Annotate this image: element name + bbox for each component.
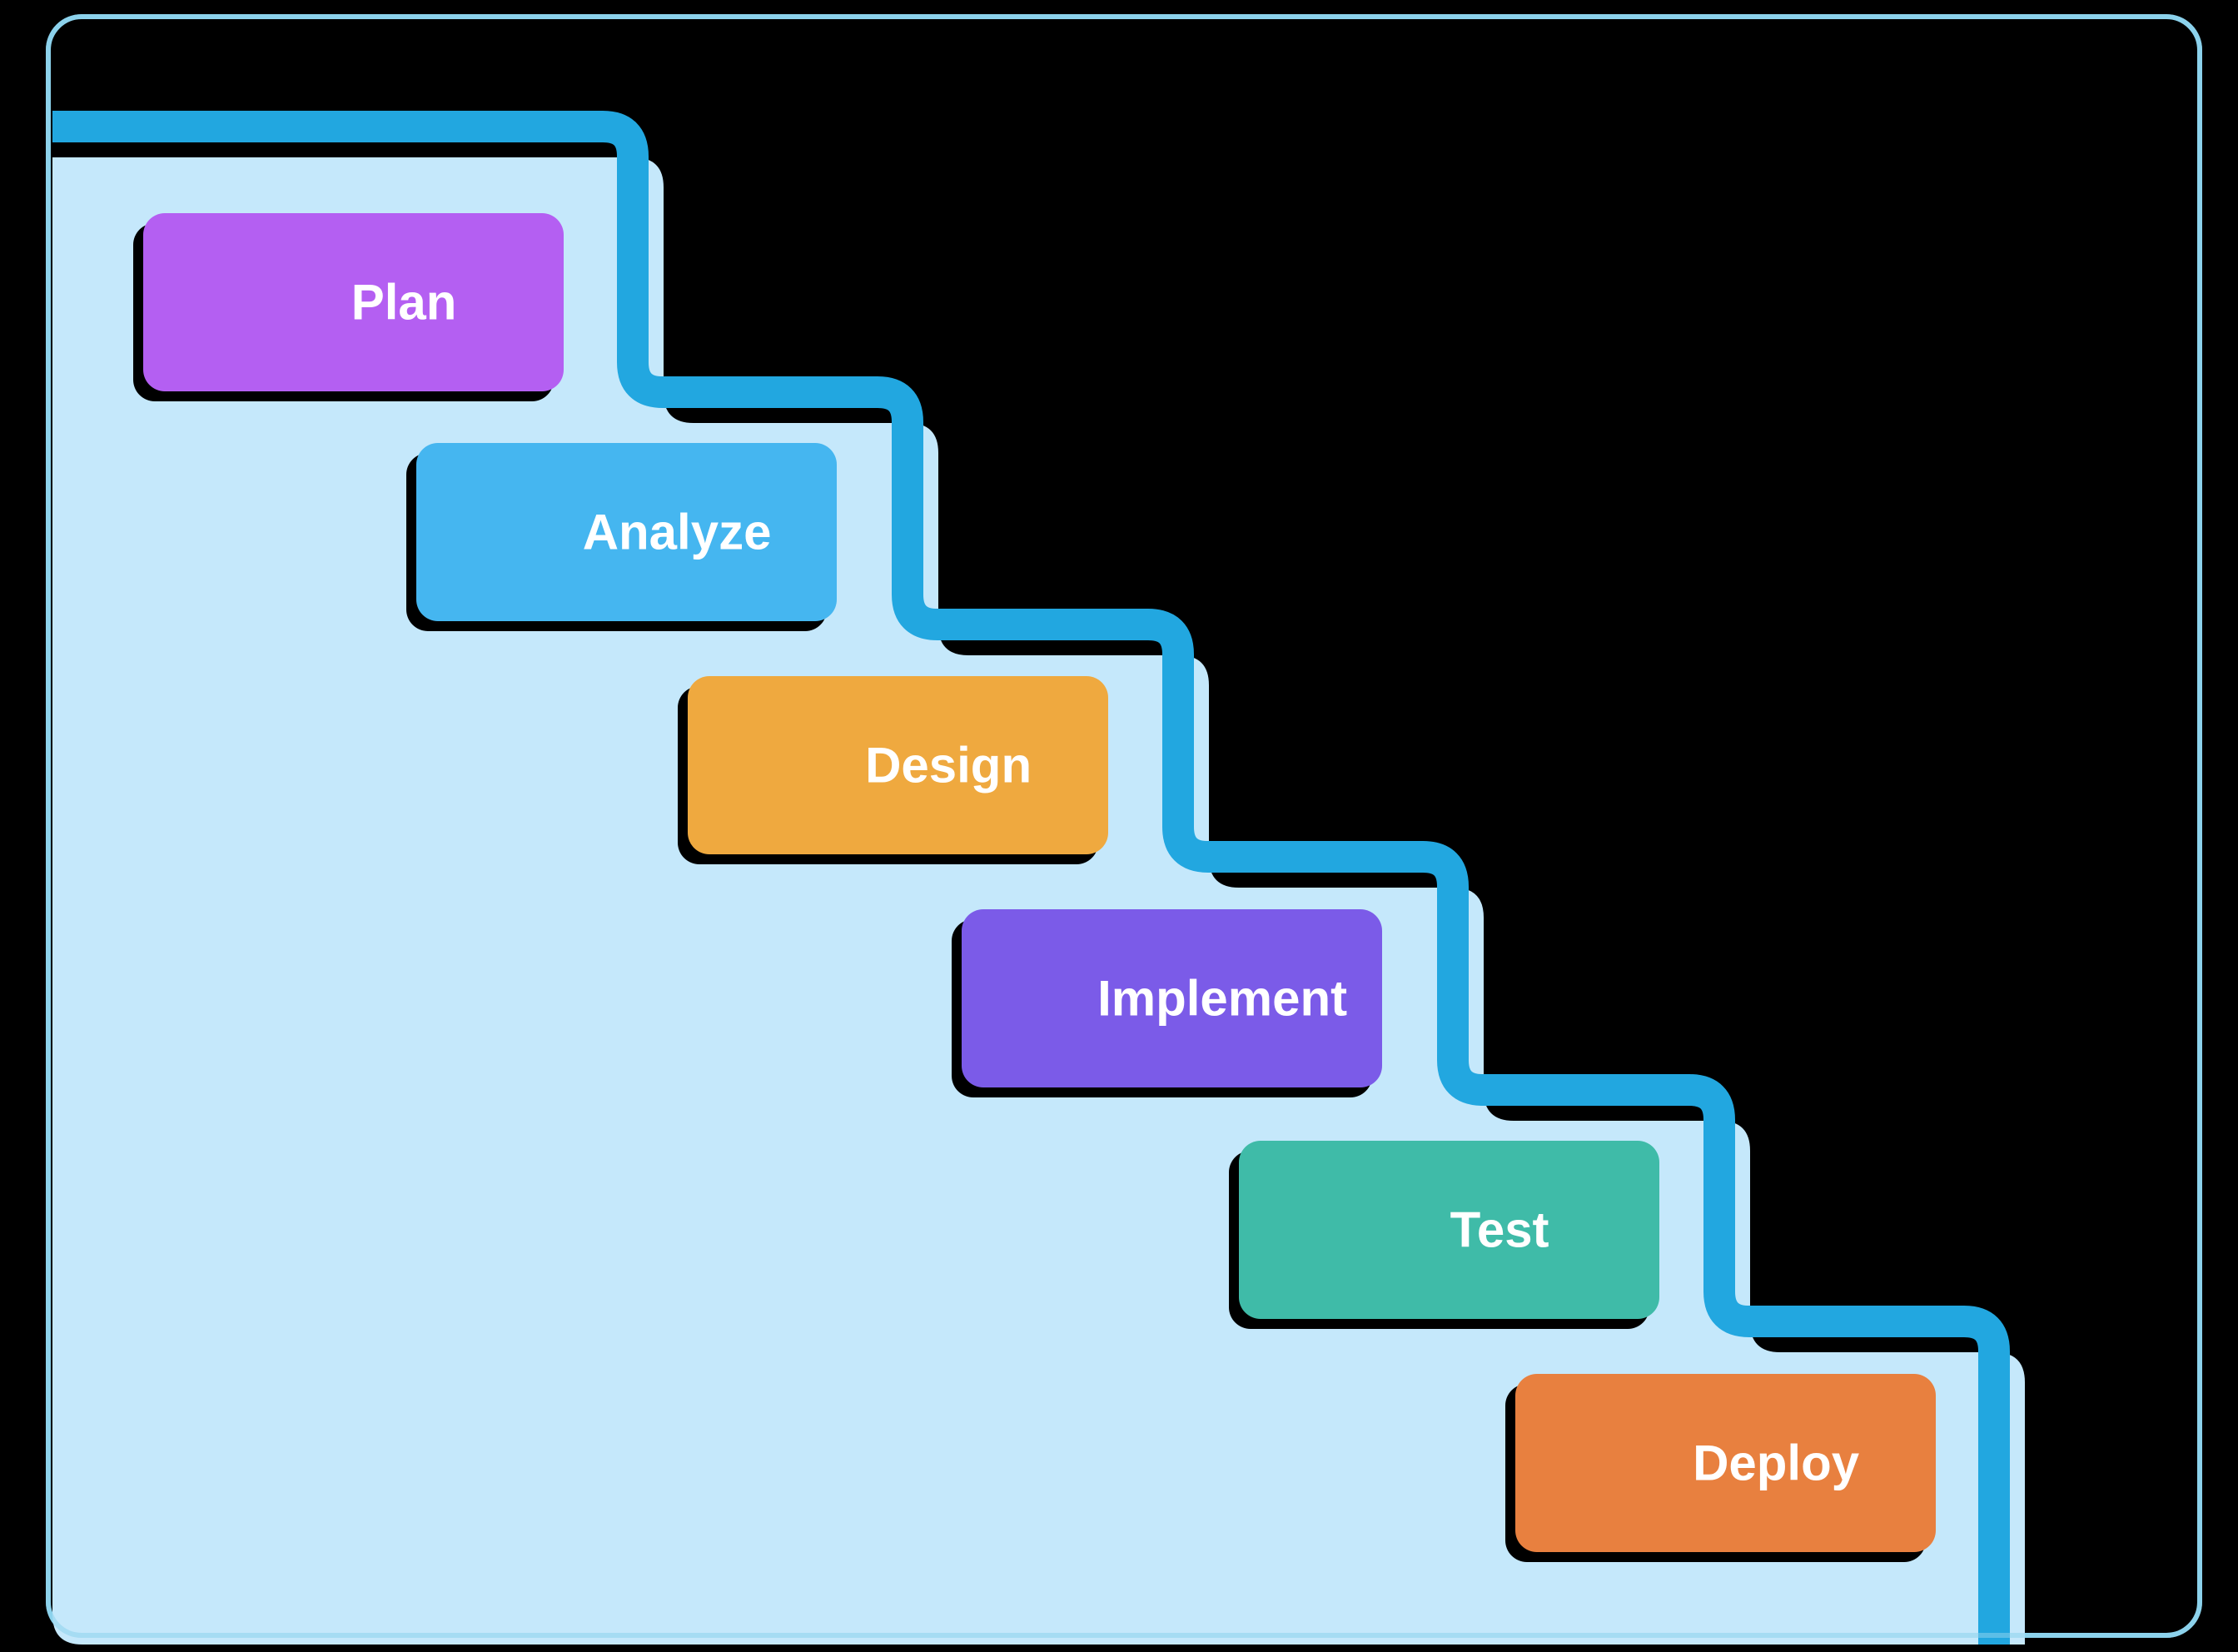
stage-box-label: Analyze <box>583 505 772 560</box>
stage-box-label: Plan <box>351 275 457 331</box>
stage-box-label: Deploy <box>1693 1436 1860 1491</box>
stage-box-test[interactable]: Test <box>1229 1141 1659 1329</box>
stage-box-label: Implement <box>1097 971 1347 1027</box>
diagram-canvas: PlanAnalyzeDesignImplementTestDeploy <box>0 0 2238 1652</box>
waterfall-diagram: PlanAnalyzeDesignImplementTestDeploy <box>0 0 2238 1652</box>
stage-box-analyze[interactable]: Analyze <box>406 443 837 631</box>
stage-box-plan[interactable]: Plan <box>133 213 564 401</box>
stage-box-label: Test <box>1450 1202 1549 1258</box>
stage-box-design[interactable]: Design <box>678 676 1108 864</box>
stage-box-deploy[interactable]: Deploy <box>1505 1374 1936 1562</box>
stage-box-implement[interactable]: Implement <box>952 909 1382 1097</box>
stage-box-label: Design <box>865 738 1032 794</box>
stage-box-body[interactable] <box>1239 1141 1659 1319</box>
